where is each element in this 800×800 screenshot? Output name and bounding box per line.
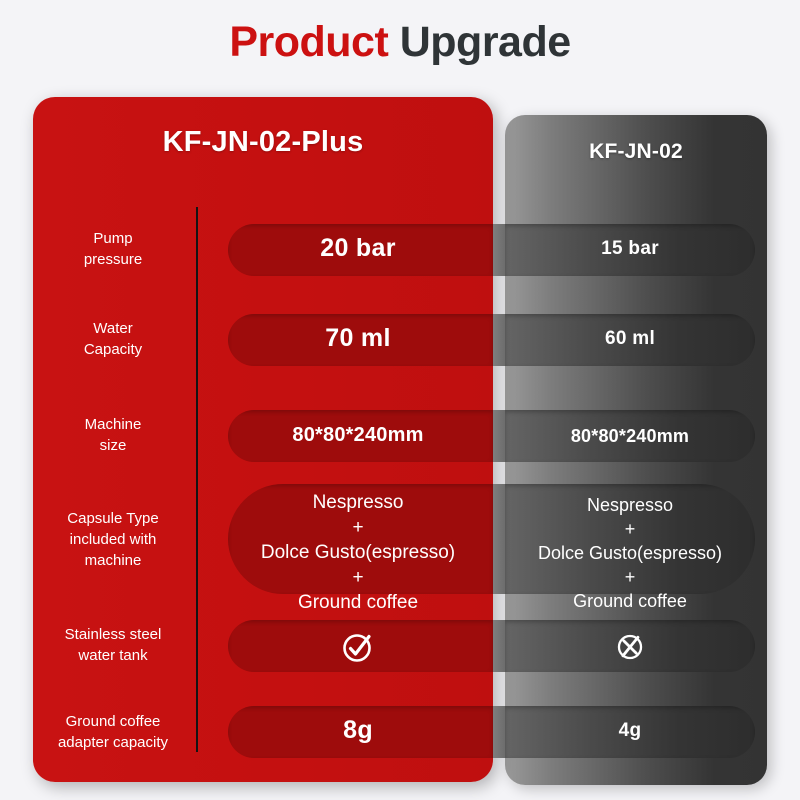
page-title-highlight: Product bbox=[229, 18, 388, 66]
baseline-product-name: KF-JN-02 bbox=[505, 140, 767, 164]
pill-gap-segment bbox=[493, 410, 505, 462]
featured-product-name: KF-JN-02-Plus bbox=[33, 126, 493, 159]
pill-gap-segment bbox=[493, 224, 505, 276]
product-comparison-infographic: Product Upgrade KF-JN-02-Plus KF-JN-02 P… bbox=[0, 0, 800, 800]
pill-gap-segment bbox=[493, 314, 505, 366]
page-title: Product Upgrade bbox=[0, 18, 800, 67]
pill-gap-segment bbox=[493, 706, 505, 758]
label-value-divider bbox=[196, 207, 198, 752]
pill-gap-segment bbox=[493, 484, 505, 594]
page-title-rest: Upgrade bbox=[388, 18, 570, 66]
baseline-product-panel bbox=[505, 115, 767, 785]
pill-gap-segment bbox=[493, 620, 505, 672]
featured-product-panel bbox=[33, 97, 493, 782]
